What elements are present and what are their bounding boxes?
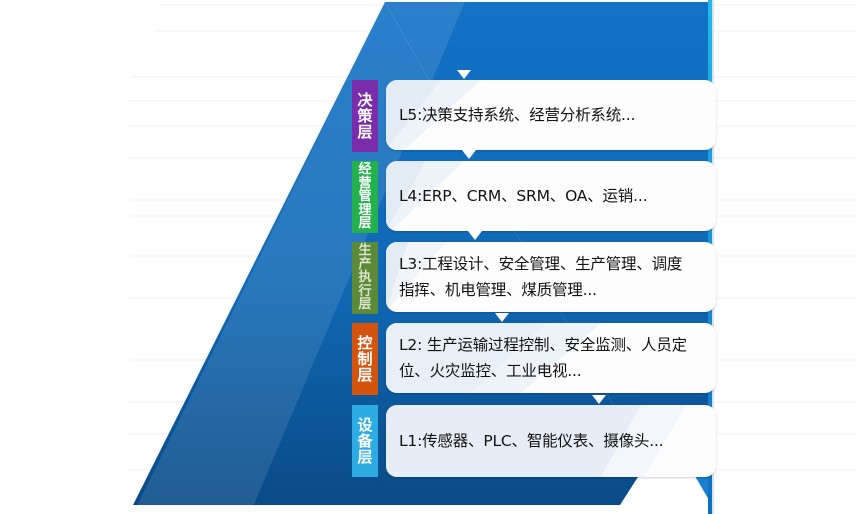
tag-char: 经 — [358, 163, 371, 177]
level-card-l2[interactable]: L2: 生产运输过程控制、安全监测、人员定 位、火灾监控、工业电视... — [386, 323, 716, 393]
tag-char: 层 — [357, 449, 372, 465]
level-row-l3[interactable]: 生 产 执 行 层 L3:工程设计、安全管理、生产管理、调度 指挥、机电管理、煤… — [352, 242, 716, 314]
flow-arrow-l2-l1 — [592, 395, 606, 404]
tag-char: 理 — [358, 204, 371, 218]
level-card-l5[interactable]: L5:决策支持系统、经营分析系统... — [386, 80, 716, 150]
level-card-l3[interactable]: L3:工程设计、安全管理、生产管理、调度 指挥、机电管理、煤质管理... — [386, 242, 716, 312]
flow-arrow-l3-l2 — [495, 313, 509, 322]
level-tag-l2: 控 制 层 — [352, 323, 378, 395]
tag-char: 层 — [357, 124, 372, 140]
level-row-l5[interactable]: 决 策 层 L5:决策支持系统、经营分析系统... — [352, 80, 716, 152]
level-text-l5: L5:决策支持系统、经营分析系统... — [386, 102, 648, 128]
level-text-l3: L3:工程设计、安全管理、生产管理、调度 指挥、机电管理、煤质管理... — [386, 251, 695, 303]
level-card-l4[interactable]: L4:ERP、CRM、SRM、OA、运销... — [386, 161, 716, 231]
level-row-l2[interactable]: 控 制 层 L2: 生产运输过程控制、安全监测、人员定 位、火灾监控、工业电视.… — [352, 323, 716, 395]
tag-char: 控 — [357, 335, 372, 351]
flow-arrow-l4-l3 — [468, 231, 482, 240]
level-row-l4[interactable]: 经 营 管 理 层 L4:ERP、CRM、SRM、OA、运销... — [352, 161, 716, 233]
level-tag-l1: 设 备 层 — [352, 405, 378, 477]
tag-char: 生 — [358, 244, 371, 258]
level-text-l1: L1:传感器、PLC、智能仪表、摄像头... — [386, 428, 676, 454]
diagram-canvas: 决 策 层 L5:决策支持系统、经营分析系统... 经 营 管 理 层 L4:E… — [0, 0, 856, 514]
level-tag-l3: 生 产 执 行 层 — [352, 242, 378, 314]
tag-char: 层 — [358, 217, 371, 231]
tag-char: 层 — [358, 298, 371, 312]
tag-char: 制 — [357, 351, 372, 367]
tag-char: 设 — [357, 417, 372, 433]
tag-char: 管 — [358, 190, 371, 204]
level-row-l1[interactable]: 设 备 层 L1:传感器、PLC、智能仪表、摄像头... — [352, 405, 716, 477]
level-text-l2: L2: 生产运输过程控制、安全监测、人员定 位、火灾监控、工业电视... — [386, 332, 700, 384]
tag-char: 行 — [358, 285, 371, 299]
tag-char: 决 — [357, 92, 372, 108]
tag-char: 层 — [357, 367, 372, 383]
level-tag-l4: 经 营 管 理 层 — [352, 161, 378, 233]
level-tag-l5: 决 策 层 — [352, 80, 378, 152]
tag-char: 策 — [357, 108, 372, 124]
flow-arrow-top — [457, 70, 471, 79]
level-text-l4: L4:ERP、CRM、SRM、OA、运销... — [386, 183, 660, 209]
tag-char: 执 — [358, 271, 371, 285]
level-card-l1[interactable]: L1:传感器、PLC、智能仪表、摄像头... — [386, 405, 716, 477]
flow-arrow-l5-l4 — [462, 150, 476, 159]
tag-char: 备 — [357, 433, 372, 449]
